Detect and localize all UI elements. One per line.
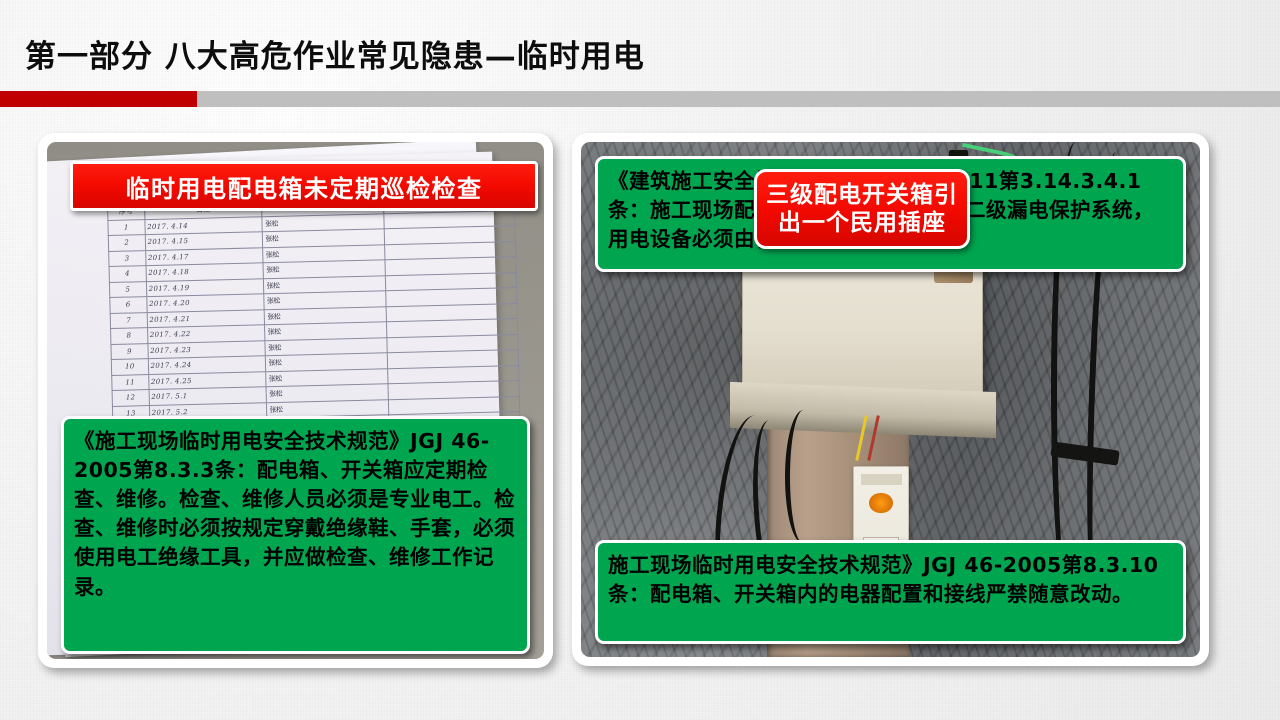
log-cell-no: 9 <box>111 343 148 359</box>
right-panel-red-callout: 三级配电开关箱引出一个民用插座 <box>754 169 970 249</box>
log-cell-no: 3 <box>108 250 145 266</box>
right-regulation-bottom: 施工现场临时用电安全技术规范》JGJ 46-2005第8.3.10条：配电箱、开… <box>595 540 1186 644</box>
left-regulation-text: 《施工现场临时用电安全技术规范》JGJ 46-2005第8.3.3条：配电箱、开… <box>61 416 530 654</box>
log-cell-no: 7 <box>110 312 147 328</box>
log-cell-no: 12 <box>112 389 149 405</box>
right-case-panel: 《建筑施工安全检查标准》JGJ 59-2011第3.14.3.4.1条：施工现场… <box>572 133 1209 666</box>
outlet-indicator-light <box>869 493 893 513</box>
right-panel-inner: 《建筑施工安全检查标准》JGJ 59-2011第3.14.3.4.1条：施工现场… <box>581 142 1200 657</box>
power-cable <box>785 410 822 544</box>
log-cell-no: 10 <box>111 358 148 374</box>
log-cell-no: 2 <box>108 234 145 250</box>
header-accent-rule-gray <box>197 91 1280 107</box>
log-cell-no: 6 <box>109 296 146 312</box>
slide-canvas: 第一部分 八大高危作业常见隐患—临时用电 电工巡检记录 序号 日期 巡检人员 <box>0 0 1280 720</box>
left-panel-inner: 电工巡检记录 序号 日期 巡检人员 备注 12017. 4.14张松22017.… <box>47 142 544 659</box>
log-cell-no: 1 <box>108 219 145 235</box>
log-cell-no: 11 <box>111 374 148 390</box>
page-title: 第一部分 八大高危作业常见隐患—临时用电 <box>25 31 645 76</box>
log-cell-no: 4 <box>109 265 146 281</box>
outlet-brand-label <box>861 474 902 485</box>
log-cell-no: 5 <box>109 281 146 297</box>
left-panel-red-banner: 临时用电配电箱未定期巡检检查 <box>70 161 538 211</box>
header-accent-rule-red <box>0 91 197 107</box>
log-cell-no: 8 <box>110 327 147 343</box>
left-case-panel: 电工巡检记录 序号 日期 巡检人员 备注 12017. 4.14张松22017.… <box>38 133 553 668</box>
